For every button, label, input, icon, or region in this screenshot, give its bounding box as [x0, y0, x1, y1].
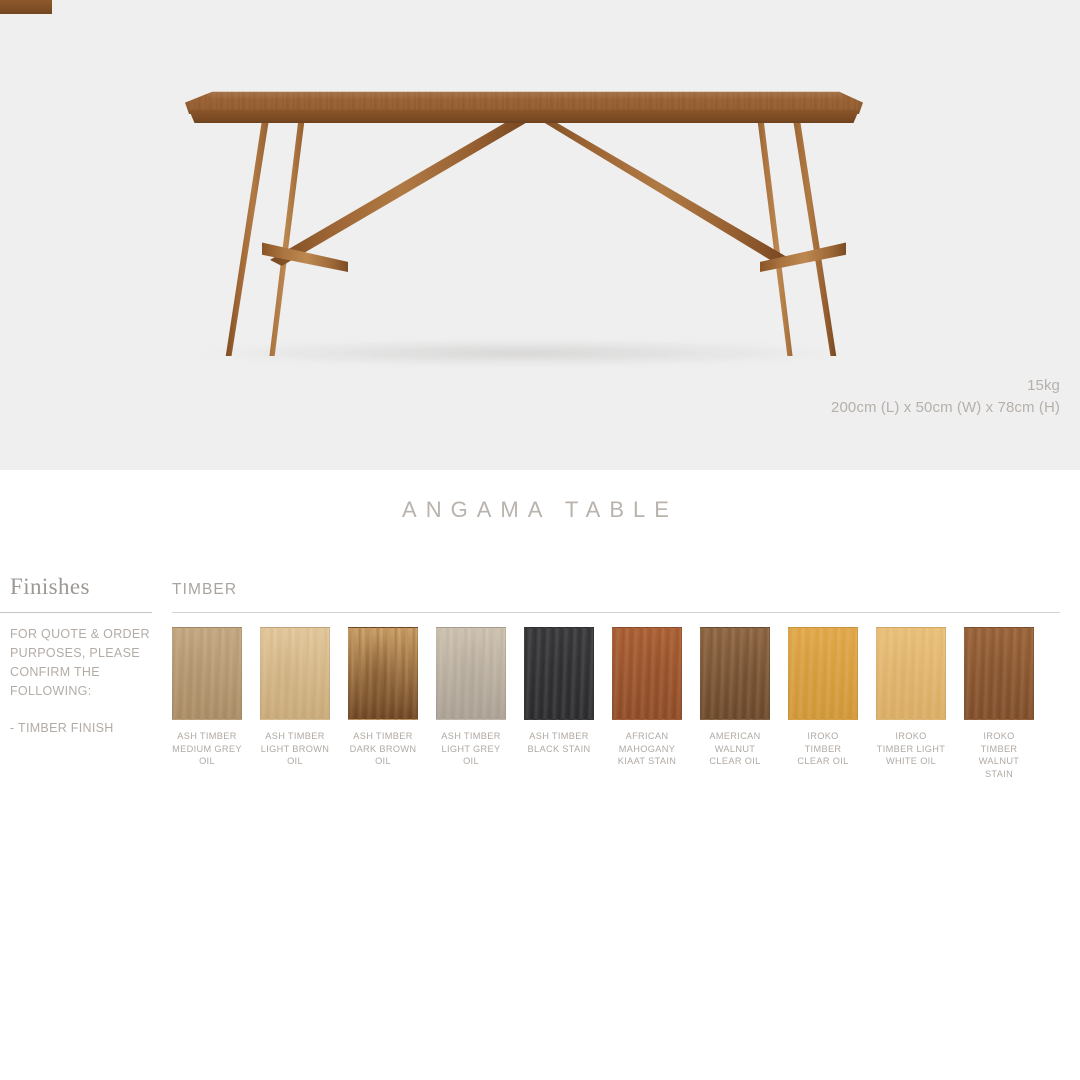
timber-swatch-label: ASH TIMBER DARK BROWN OIL [348, 730, 418, 768]
table-leg-left-outer [224, 118, 282, 356]
timber-swatch-label: ASH TIMBER BLACK STAIN [524, 730, 594, 755]
timber-swatch[interactable]: IROKO TIMBER CLEAR OIL [788, 627, 858, 780]
timber-swatch-label: AFRICAN MAHOGANY KIAAT STAIN [612, 730, 682, 768]
finishes-heading: Finishes [10, 574, 90, 600]
timber-swatch-chip[interactable] [964, 627, 1034, 720]
timber-swatch[interactable]: AMERICAN WALNUT CLEAR OIL [700, 627, 770, 780]
table-top-edge [185, 110, 863, 123]
timber-swatch[interactable]: ASH TIMBER LIGHT BROWN OIL [260, 627, 330, 780]
table-leg-left-inner [258, 118, 310, 356]
table-leg-right-inner [752, 118, 804, 356]
timber-swatch-chip[interactable] [612, 627, 682, 720]
table-brace-joint [0, 0, 52, 14]
timber-swatch-label: AMERICAN WALNUT CLEAR OIL [700, 730, 770, 768]
finishes-note: FOR QUOTE & ORDER PURPOSES, PLEASE CONFI… [10, 625, 160, 738]
table-leg-right-outer [780, 118, 838, 356]
timber-swatch[interactable]: AFRICAN MAHOGANY KIAAT STAIN [612, 627, 682, 780]
timber-swatch[interactable]: ASH TIMBER DARK BROWN OIL [348, 627, 418, 780]
product-dimensions: 200cm (L) x 50cm (W) x 78cm (H) [831, 397, 1060, 419]
table-top [185, 84, 863, 122]
timber-swatch[interactable]: IROKO TIMBER WALNUT STAIN [964, 627, 1034, 780]
timber-swatch-label: ASH TIMBER LIGHT GREY OIL [436, 730, 506, 768]
timber-swatch-chip[interactable] [876, 627, 946, 720]
timber-swatch[interactable]: ASH TIMBER MEDIUM GREY OIL [172, 627, 242, 780]
table-brace-left [270, 114, 532, 266]
table-floor-shadow [200, 340, 840, 366]
timber-swatch[interactable]: IROKO TIMBER LIGHT WHITE OIL [876, 627, 946, 780]
timber-swatch-chip[interactable] [172, 627, 242, 720]
product-weight: 15kg [831, 375, 1060, 397]
finishes-bullet-timber: - TIMBER FINISH [10, 719, 160, 738]
finishes-divider [0, 612, 152, 613]
timber-swatch-label: IROKO TIMBER WALNUT STAIN [964, 730, 1034, 780]
timber-swatch-chip[interactable] [436, 627, 506, 720]
timber-swatch-label: IROKO TIMBER LIGHT WHITE OIL [876, 730, 946, 768]
timber-swatch-chip[interactable] [348, 627, 418, 720]
timber-swatch-label: ASH TIMBER MEDIUM GREY OIL [172, 730, 242, 768]
timber-heading: TIMBER [172, 581, 237, 599]
timber-swatch-chip[interactable] [260, 627, 330, 720]
timber-divider [172, 612, 1060, 613]
product-specs: 15kg 200cm (L) x 50cm (W) x 78cm (H) [831, 375, 1060, 419]
timber-swatch-chip[interactable] [700, 627, 770, 720]
timber-swatch-label: ASH TIMBER LIGHT BROWN OIL [260, 730, 330, 768]
table-top-highlight [205, 87, 845, 100]
timber-swatch-chip[interactable] [788, 627, 858, 720]
timber-swatch-label: IROKO TIMBER CLEAR OIL [788, 730, 858, 768]
timber-swatch-row: ASH TIMBER MEDIUM GREY OILASH TIMBER LIG… [172, 627, 1062, 780]
table-brace-right [530, 114, 792, 266]
hero-image-panel: 15kg 200cm (L) x 50cm (W) x 78cm (H) [0, 0, 1080, 470]
finishes-note-text: FOR QUOTE & ORDER PURPOSES, PLEASE CONFI… [10, 627, 150, 698]
timber-swatch[interactable]: ASH TIMBER BLACK STAIN [524, 627, 594, 780]
page-title: ANGAMA TABLE [0, 497, 1080, 523]
timber-swatch[interactable]: ASH TIMBER LIGHT GREY OIL [436, 627, 506, 780]
timber-swatch-chip[interactable] [524, 627, 594, 720]
